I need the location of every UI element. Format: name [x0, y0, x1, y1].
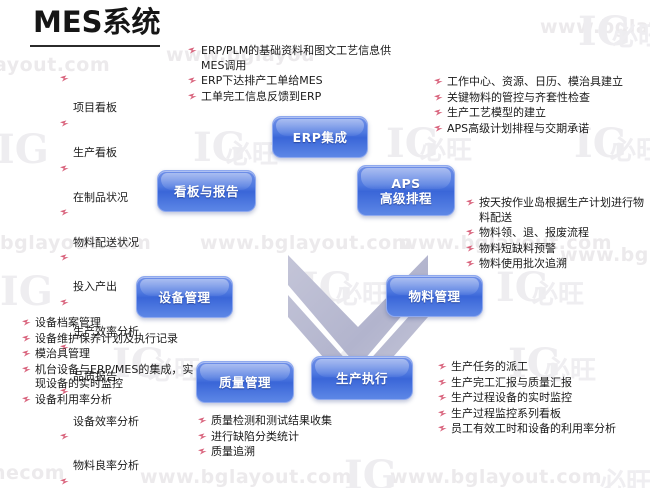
watermark-brand: 必旺 [226, 134, 278, 171]
list-item: 物料良率分析 [60, 430, 180, 474]
list-item: 生产任务的派工 [438, 360, 650, 375]
watermark-brand: 必旺 [612, 16, 650, 53]
arrow-bullet-icon [60, 299, 69, 307]
node-equipment-mgmt[interactable]: 设备管理 [136, 276, 233, 318]
list-item: 设备档案管理 [22, 316, 200, 331]
arrow-bullet-icon [434, 109, 443, 117]
watermark-logo-icon: IG [0, 268, 53, 315]
list-item-label: 生产看板 [73, 146, 117, 159]
arrow-bullet-icon [60, 120, 69, 128]
list-item: 生产看板 [60, 117, 180, 161]
list-item-label: 物料配送状况 [73, 236, 139, 249]
arrow-bullet-icon [466, 199, 475, 207]
arrow-bullet-icon [60, 433, 69, 441]
arrow-bullet-icon [60, 478, 69, 486]
list-item: APS高级计划排程与交期承诺 [434, 122, 634, 137]
arrow-bullet-icon [60, 165, 69, 173]
list-item-label: 工作中心、资源、日历、模治具建立 [447, 75, 623, 88]
arrow-bullet-icon [438, 425, 447, 433]
list-item: 质量检测和测试结果收集 [198, 414, 398, 429]
list-item-label: 生产过程设备的实时监控 [451, 391, 572, 404]
watermark-url: www.bglayout.com [200, 232, 412, 254]
list-item-label: 设备利用率分析 [35, 393, 112, 406]
arrow-bullet-icon [22, 335, 31, 343]
list-item-label: 在制品状况 [73, 191, 128, 204]
arrow-bullet-icon [434, 125, 443, 133]
arrow-bullet-icon [60, 209, 69, 217]
list-item: 人员效率分析 [60, 475, 180, 488]
list-item-label: APS高级计划排程与交期承诺 [447, 122, 589, 135]
list-item-label: 机台设备与ERP/MES的集成，实现设备的实时监控 [35, 363, 193, 391]
watermark-logo-icon: IG [193, 124, 246, 171]
list-item: 物料短缺料预警 [466, 242, 644, 257]
list-quality-mgmt: 质量检测和测试结果收集 进行缺陷分类统计 质量追溯 [198, 414, 398, 461]
node-aps[interactable]: APS 高级排程 [357, 165, 455, 216]
list-item: 工作中心、资源、日历、模治具建立 [434, 75, 634, 90]
node-label: 看板与报告 [174, 184, 239, 199]
list-erp-integration: ERP/PLM的基础资料和图文工艺信息供MES调用 ERP下达排产工单给MES … [188, 44, 414, 105]
arrow-bullet-icon [434, 94, 443, 102]
list-item-label: 项目看板 [73, 101, 117, 114]
list-item: 进行缺陷分类统计 [198, 430, 398, 445]
watermark-url: necom [0, 462, 65, 484]
arrow-bullet-icon [466, 245, 475, 253]
list-item-label: 物料领、退、报废流程 [479, 226, 589, 239]
node-label: 物料管理 [408, 289, 460, 304]
list-item-label: 生产工艺模型的建立 [447, 106, 546, 119]
list-item-label: 设备维护保养计划及执行记录 [35, 332, 178, 345]
list-item: 项目看板 [60, 72, 180, 116]
arrow-bullet-icon [22, 366, 31, 374]
arrow-bullet-icon [466, 229, 475, 237]
list-item: 模治具管理 [22, 347, 200, 362]
arrow-bullet-icon [434, 78, 443, 86]
arrow-bullet-icon [60, 75, 69, 83]
list-item-label: 投入产出 [73, 280, 117, 293]
list-item-label: 进行缺陷分类统计 [211, 430, 299, 443]
watermark-logo-icon: IG [578, 8, 631, 55]
list-item: 生产过程监控系列看板 [438, 407, 650, 422]
node-label: 生产执行 [336, 371, 388, 386]
list-item: 机台设备与ERP/MES的集成，实现设备的实时监控 [22, 363, 200, 392]
node-label: APS 高级排程 [380, 176, 432, 206]
list-item: 物料领、退、报废流程 [466, 226, 644, 241]
list-item: 设备利用率分析 [22, 393, 200, 408]
list-item-label: 按天按作业岛根据生产计划进行物料配送 [479, 196, 644, 224]
arrow-bullet-icon [438, 379, 447, 387]
list-item: 设备维护保养计划及执行记录 [22, 332, 200, 347]
watermark-brand: 必旺 [600, 462, 650, 488]
arrow-bullet-icon [438, 394, 447, 402]
arrow-bullet-icon [198, 448, 207, 456]
list-item-label: 生产过程监控系列看板 [451, 407, 561, 420]
list-item: ERP/PLM的基础资料和图文工艺信息供MES调用 [188, 44, 414, 73]
diagram-canvas: www.bglayout.com IG 必旺 www.bglayou ayout… [0, 0, 650, 488]
watermark-url: www.bglayout.com [540, 16, 650, 38]
list-item-label: 物料良率分析 [73, 459, 139, 472]
arrow-bullet-icon [438, 410, 447, 418]
list-item: 物料配送状况 [60, 206, 180, 250]
page-title: MES系统 [33, 8, 161, 37]
list-item-label: 质量检测和测试结果收集 [211, 414, 332, 427]
list-item-label: 关键物料的管控与齐套性检查 [447, 91, 590, 104]
list-item-label: 设备效率分析 [73, 415, 139, 428]
list-item-label: 工单完工信息反馈到ERP [201, 90, 321, 103]
node-label: 质量管理 [219, 375, 271, 390]
list-item: 员工有效工时和设备的利用率分析 [438, 422, 650, 437]
arrow-bullet-icon [188, 93, 197, 101]
arrow-bullet-icon [198, 417, 207, 425]
list-item-label: 质量追溯 [211, 445, 255, 458]
list-item-label: 生产任务的派工 [451, 360, 528, 373]
list-item-label: ERP下达排产工单给MES [201, 74, 323, 87]
list-production-exec: 生产任务的派工 生产完工汇报与质量汇报 生产过程设备的实时监控 生产过程监控系列… [438, 360, 650, 438]
list-item: 关键物料的管控与齐套性检查 [434, 91, 634, 106]
arrow-bullet-icon [22, 319, 31, 327]
arrow-bullet-icon [438, 363, 447, 371]
list-item-label: 物料短缺料预警 [479, 242, 556, 255]
list-item: 生产过程设备的实时监控 [438, 391, 650, 406]
watermark-url: www.bglayout.com [390, 466, 602, 488]
watermark-brand: 必旺 [532, 274, 584, 311]
arrow-bullet-icon [22, 396, 31, 404]
list-item: 按天按作业岛根据生产计划进行物料配送 [466, 196, 644, 225]
list-item: 物料使用批次追溯 [466, 257, 644, 272]
arrow-bullet-icon [188, 47, 197, 55]
list-item: ERP下达排产工单给MES [188, 74, 414, 89]
node-quality-mgmt[interactable]: 质量管理 [196, 361, 294, 403]
list-item-label: ERP/PLM的基础资料和图文工艺信息供MES调用 [201, 44, 391, 72]
list-item-label: 设备档案管理 [35, 316, 101, 329]
list-item-label: 物料使用批次追溯 [479, 257, 567, 270]
arrow-bullet-icon [60, 254, 69, 262]
node-label: 设备管理 [158, 290, 210, 305]
arrow-bullet-icon [188, 77, 197, 85]
arrow-bullet-icon [198, 433, 207, 441]
list-item: 工单完工信息反馈到ERP [188, 90, 414, 105]
node-production-exec[interactable]: 生产执行 [311, 356, 413, 400]
list-item: 生产完工汇报与质量汇报 [438, 376, 650, 391]
list-item-label: 生产完工汇报与质量汇报 [451, 376, 572, 389]
list-item: 生产工艺模型的建立 [434, 106, 634, 121]
list-item-label: 员工有效工时和设备的利用率分析 [451, 422, 616, 435]
list-material-mgmt: 按天按作业岛根据生产计划进行物料配送 物料领、退、报废流程 物料短缺料预警 物料… [466, 196, 644, 273]
title-underline [30, 45, 160, 47]
arrow-bullet-icon [466, 260, 475, 268]
list-aps: 工作中心、资源、日历、模治具建立 关键物料的管控与齐套性检查 生产工艺模型的建立… [434, 75, 634, 137]
watermark-logo-icon: IG [386, 120, 439, 167]
list-item-label: 模治具管理 [35, 347, 90, 360]
node-kanban-report[interactable]: 看板与报告 [157, 170, 256, 212]
node-erp-integration[interactable]: ERP集成 [272, 116, 368, 158]
node-label: ERP集成 [293, 130, 348, 145]
watermark-logo-icon: IG [0, 126, 49, 173]
node-material-mgmt[interactable]: 物料管理 [386, 275, 483, 317]
arrow-bullet-icon [22, 350, 31, 358]
list-equipment-mgmt: 设备档案管理 设备维护保养计划及执行记录 模治具管理 机台设备与ERP/MES的… [22, 316, 200, 409]
list-item: 质量追溯 [198, 445, 398, 460]
